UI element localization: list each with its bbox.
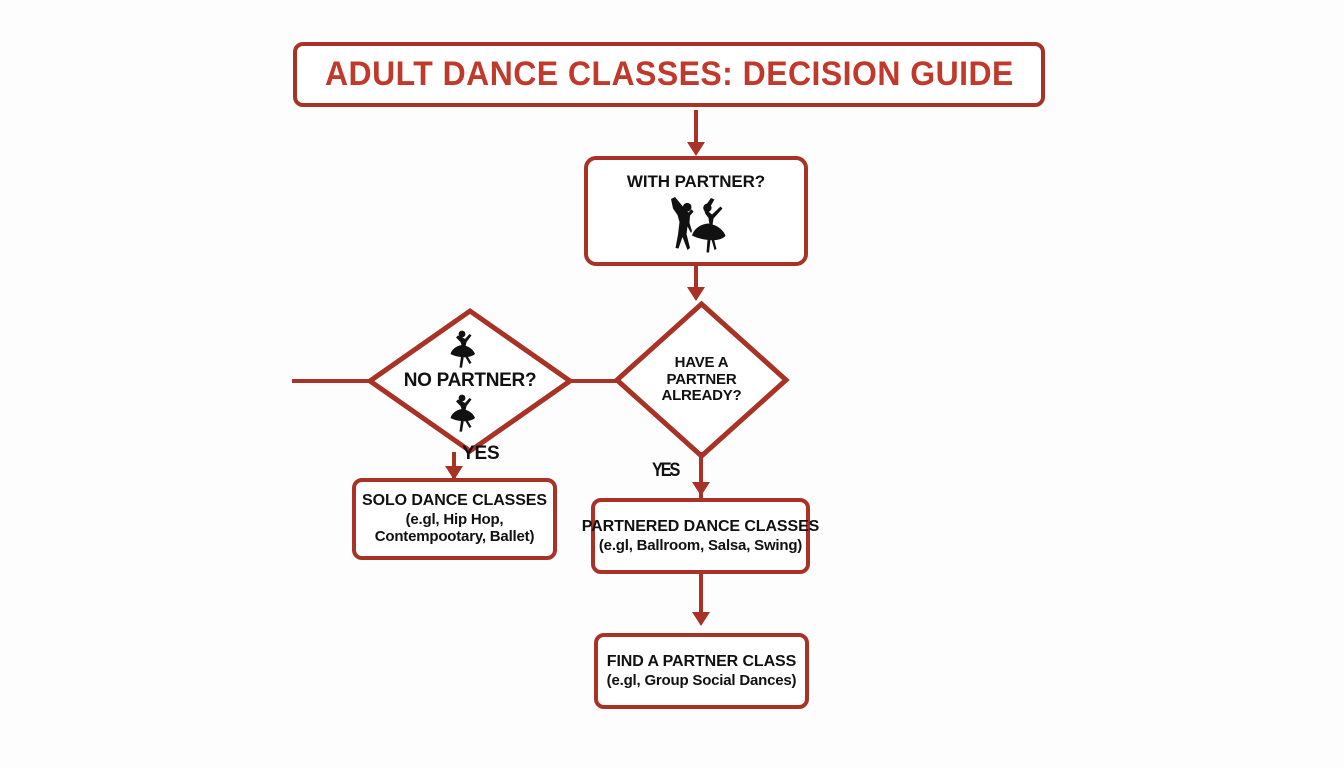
node-solo-sub-line1: (e.gl, Hip Hop,	[406, 511, 504, 529]
decision-no-partner[interactable]: NO PARTNER?	[366, 307, 574, 455]
dancing-couple-icon	[665, 196, 727, 254]
node-partnered-heading: PARTNERED DANCE CLASSES	[582, 518, 819, 537]
node-with-partner[interactable]: WITH PARTNER?	[584, 156, 808, 266]
node-solo-dance-classes[interactable]: SOLO DANCE CLASSES (e.gl, Hip Hop, Conte…	[352, 478, 557, 560]
node-partnered-dance-classes[interactable]: PARTNERED DANCE CLASSES (e.gl, Ballroom,…	[591, 498, 810, 574]
arrowhead-with-partner-to-diamond	[687, 287, 705, 301]
node-solo-sub-line2: Contempootary, Ballet)	[375, 528, 535, 546]
connector-title-to-with-partner	[694, 110, 698, 146]
node-find-partner-heading: FIND A PARTNER CLASS	[607, 653, 796, 672]
connector-left-stub	[292, 379, 370, 383]
edge-label-yes-right: YES	[652, 460, 678, 482]
arrowhead-partnered-to-find-partner	[692, 612, 710, 626]
edge-label-yes-left: YES	[462, 443, 499, 465]
connector-between-diamonds	[568, 379, 618, 383]
flowchart-canvas: ADULT DANCE CLASSES: DECISION GUIDE WITH…	[0, 0, 1344, 768]
node-find-a-partner-class[interactable]: FIND A PARTNER CLASS (e.gl, Group Social…	[594, 633, 809, 709]
decision-have-partner-already[interactable]: HAVE A PARTNER ALREADY?	[613, 300, 790, 460]
page-title-banner: ADULT DANCE CLASSES: DECISION GUIDE	[293, 42, 1045, 107]
node-solo-heading: SOLO DANCE CLASSES	[362, 492, 547, 511]
node-find-partner-sub-line1: (e.gl, Group Social Dances)	[607, 672, 797, 690]
node-with-partner-label: WITH PARTNER?	[627, 172, 765, 192]
arrowhead-title-to-with-partner	[687, 142, 705, 156]
page-title: ADULT DANCE CLASSES: DECISION GUIDE	[325, 55, 1014, 94]
node-partnered-sub-line1: (e.gl, Ballroom, Salsa, Swing)	[599, 537, 802, 555]
arrowhead-have-partner-to-partnered	[692, 482, 710, 496]
